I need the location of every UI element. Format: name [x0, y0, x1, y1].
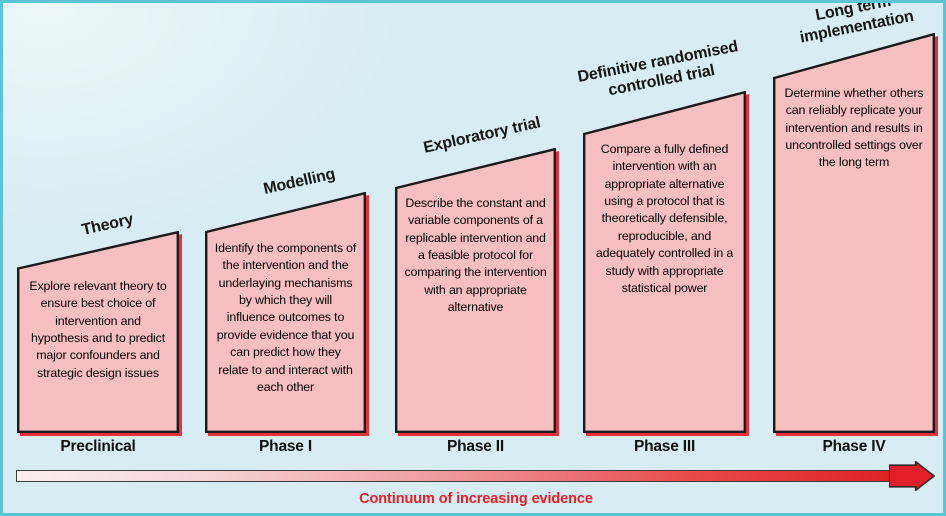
stage-panel-phase-iii: Compare a fully defined intervention wit…: [583, 91, 746, 433]
stage-body-text: Compare a fully defined intervention wit…: [592, 141, 737, 297]
arrow-bar: [16, 470, 904, 482]
phase-label-phase-ii: Phase II: [395, 438, 556, 456]
phase-label-phase-i: Phase I: [205, 438, 366, 456]
stage-body-text: Identify the components of the intervent…: [214, 240, 357, 396]
stage-body-text: Determine whether others can reliably re…: [782, 85, 926, 172]
continuum-arrow: [16, 461, 935, 491]
arrow-caption: Continuum of increasing evidence: [3, 491, 946, 507]
phase-label-preclinical: Preclinical: [17, 438, 179, 456]
stage-body-text: Describe the constant and variable compo…: [404, 195, 547, 317]
crm-framework-diagram: Explore relevant theory to ensure best c…: [0, 0, 946, 516]
stage-panel-phase-ii: Describe the constant and variable compo…: [395, 148, 556, 433]
stage-panel-phase-iv: Determine whether others can reliably re…: [773, 33, 935, 433]
stage-panel-preclinical: Explore relevant theory to ensure best c…: [17, 231, 179, 433]
arrow-head-outline: [889, 461, 935, 491]
phase-label-phase-iii: Phase III: [583, 438, 746, 456]
stage-body-text: Explore relevant theory to ensure best c…: [26, 278, 170, 382]
stage-panel-phase-i: Identify the components of the intervent…: [205, 192, 366, 433]
phase-label-phase-iv: Phase IV: [773, 438, 935, 456]
